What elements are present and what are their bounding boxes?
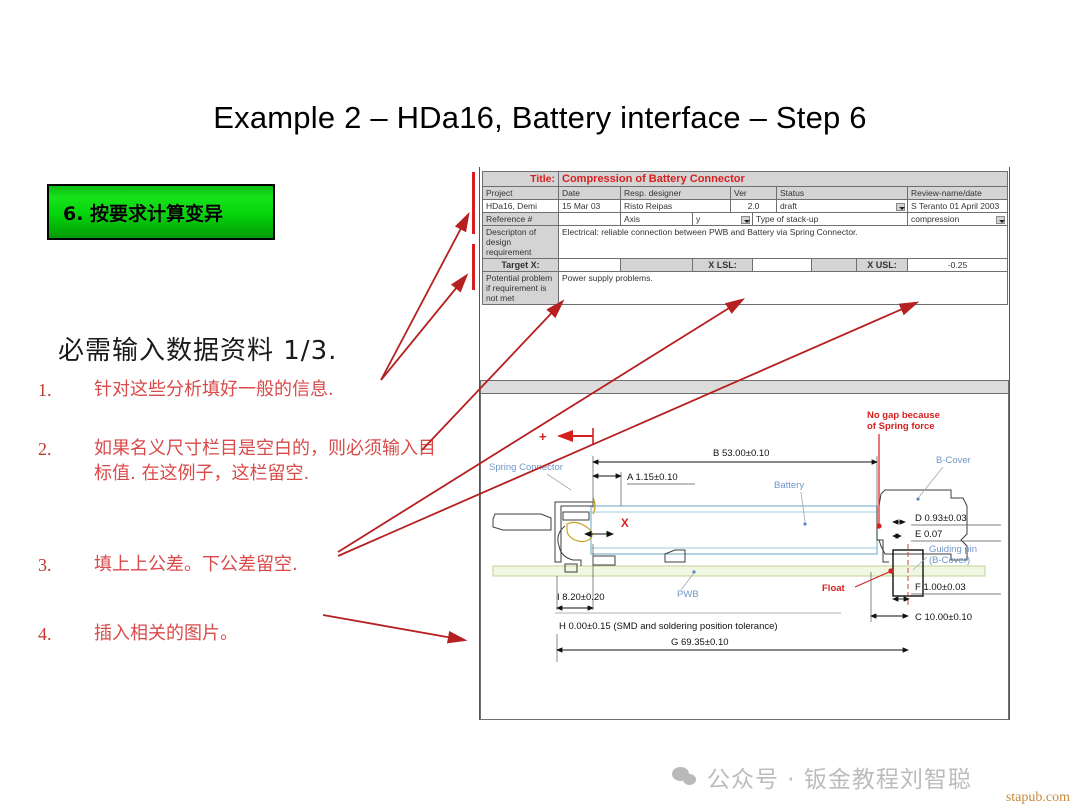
list-item-number: 4. [38, 622, 72, 647]
label-x-lsl: X LSL: [693, 259, 753, 272]
table-row: Reference # Axis y Type of stack-up comp… [483, 213, 1008, 226]
revision-bar [472, 172, 475, 234]
list-item-label: 针对这些分析填好一般的信息. [94, 378, 438, 403]
spacer-cell-2 [812, 259, 857, 272]
site-tag: stapub.com [1006, 790, 1070, 806]
list-item: 3. 填上上公差。下公差留空. [38, 553, 438, 578]
field-status-value: draft [780, 201, 797, 211]
list-item: 1. 针对这些分析填好一般的信息. [38, 378, 438, 403]
header-potential-problem: Potential problem if requirement is not … [483, 272, 559, 305]
header-resp-designer: Resp. designer [621, 187, 731, 200]
header-project: Project [483, 187, 559, 200]
dimension-D: D 0.93±0.03 [915, 513, 967, 524]
chevron-down-icon[interactable] [741, 216, 750, 224]
field-stackup-value: compression [911, 214, 959, 224]
field-date[interactable]: 15 Mar 03 [559, 200, 621, 213]
dimension-E: E 0.07 [915, 529, 942, 540]
dimension-G: G 69.35±0.10 [671, 637, 729, 648]
page-title: Example 2 – HDa16, Battery interface – S… [0, 100, 1080, 136]
header-axis: Axis [621, 213, 693, 226]
field-target-x[interactable] [559, 259, 621, 272]
dimension-I: I 8.20±0.20 [557, 592, 604, 603]
annotation-arrow-1 [381, 215, 468, 380]
wechat-icon [672, 766, 698, 788]
title-value: Compression of Battery Connector [559, 172, 1008, 187]
field-stackup-dropdown[interactable]: compression [908, 213, 1008, 226]
technical-drawing-panel: + B 53.00±0.10 A 1.15±0.10 X Spring Conn… [480, 394, 1009, 720]
step-badge-label: 6. 按要求计算变异 [49, 199, 223, 226]
table-row: Title: Compression of Battery Connector [483, 172, 1008, 187]
chevron-down-icon[interactable] [896, 203, 905, 211]
watermark: 公众号 · 钣金教程刘智聪 [672, 760, 972, 794]
field-x-lsl[interactable] [753, 259, 812, 272]
chevron-down-icon[interactable] [996, 216, 1005, 224]
table-row: HDa16, Demi 15 Mar 03 Risto Reipas 2.0 d… [483, 200, 1008, 213]
field-resp-designer[interactable]: Risto Reipas [621, 200, 731, 213]
header-ver: Ver [731, 187, 777, 200]
callout-b-cover: B-Cover [936, 455, 971, 466]
spec-form-table: Title: Compression of Battery Connector … [482, 171, 1008, 305]
field-review[interactable]: S Teranto 01 April 2003 [908, 200, 1008, 213]
header-reference: Reference # [483, 213, 559, 226]
callout-guiding-pin-line2: (B-Cover) [929, 555, 970, 566]
dimension-F: F 1.00±0.03 [915, 582, 966, 593]
dimension-X: X [621, 518, 629, 530]
drawing-canvas: + B 53.00±0.10 A 1.15±0.10 X Spring Conn… [481, 394, 1009, 720]
field-axis-value: y [696, 214, 700, 224]
field-reference[interactable] [559, 213, 621, 226]
header-date: Date [559, 187, 621, 200]
dimension-C: C 10.00±0.10 [915, 612, 972, 623]
field-ver[interactable]: 2.0 [731, 200, 777, 213]
field-project[interactable]: HDa16, Demi [483, 200, 559, 213]
table-row: Potential problem if requirement is not … [483, 272, 1008, 305]
list-item-label: 插入相关的图片。 [94, 622, 438, 647]
revision-bar [472, 244, 475, 290]
watermark-text: 公众号 · 钣金教程刘智聪 [707, 760, 972, 794]
field-axis-dropdown[interactable]: y [693, 213, 753, 226]
list-item-number: 2. [38, 437, 72, 462]
field-x-usl[interactable]: -0.25 [908, 259, 1008, 272]
annotation-arrow-2 [381, 276, 466, 380]
list-item-label: 填上上公差。下公差留空. [94, 553, 438, 578]
callout-pwb: PWB [677, 589, 699, 600]
table-row: Project Date Resp. designer Ver Status R… [483, 187, 1008, 200]
list-item-number: 3. [38, 553, 72, 578]
header-review: Review-name/date [908, 187, 1008, 200]
callout-no-gap-line2: of Spring force [867, 421, 935, 432]
header-status: Status [777, 187, 908, 200]
table-row: Descripton of design requirement Electri… [483, 226, 1008, 259]
list-item: 2. 如果名义尺寸栏目是空白的，则必须输入目标值. 在这例子，这栏留空. [38, 437, 438, 487]
field-status-dropdown[interactable]: draft [777, 200, 908, 213]
section-heading: 必需输入数据资料 1/3. [58, 330, 337, 367]
dimension-H: H 0.00±0.15 (SMD and soldering position … [559, 621, 778, 632]
header-stackup: Type of stack-up [753, 213, 908, 226]
callout-no-gap-line1: No gap because [867, 410, 940, 421]
spacer-cell-1 [621, 259, 693, 272]
slide-root: Example 2 – HDa16, Battery interface – S… [0, 0, 1080, 810]
label-x-usl: X USL: [857, 259, 908, 272]
callout-guiding-pin-line1: Guiding pin [929, 544, 977, 555]
panel-separator-band [480, 380, 1009, 394]
callout-spring-connector: Spring Connector [489, 462, 563, 473]
title-label: Title: [483, 172, 559, 187]
plus-marker: + [539, 429, 547, 444]
field-potential-problem[interactable]: Power supply problems. [559, 272, 1008, 305]
table-row: Target X: X LSL: X USL: -0.25 [483, 259, 1008, 272]
field-description[interactable]: Electrical: reliable connection between … [559, 226, 1008, 259]
list-item-number: 1. [38, 378, 72, 403]
dimension-B: B 53.00±0.10 [713, 448, 769, 459]
callout-float: Float [822, 583, 846, 594]
label-target-x: Target X: [483, 259, 559, 272]
list-item: 4. 插入相关的图片。 [38, 622, 438, 647]
callout-battery: Battery [774, 480, 804, 491]
dimension-A: A 1.15±0.10 [627, 472, 678, 483]
header-description: Descripton of design requirement [483, 226, 559, 259]
step-badge: 6. 按要求计算变异 [47, 184, 275, 240]
list-item-label: 如果名义尺寸栏目是空白的，则必须输入目标值. 在这例子，这栏留空. [94, 437, 438, 487]
